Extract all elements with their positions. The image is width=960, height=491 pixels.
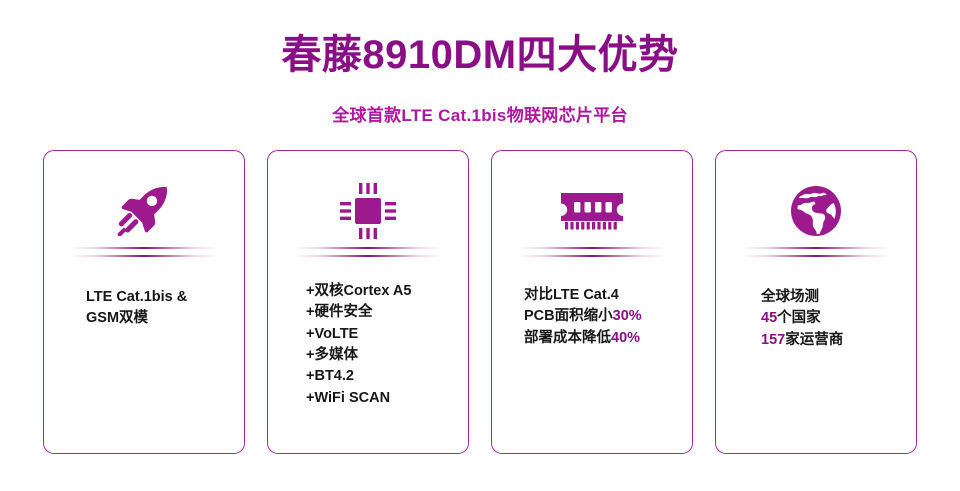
card-line: 45个国家 <box>761 308 906 329</box>
card-text: 全球场测 45个国家 157家运营商 <box>716 287 916 351</box>
card-line: +双核Cortex A5 <box>306 281 458 302</box>
card-line-highlight: 40% <box>611 330 640 346</box>
memory-module-icon <box>561 181 623 241</box>
globe-icon <box>790 181 842 241</box>
card-line: +多媒体 <box>306 345 458 366</box>
feature-card[interactable]: +双核Cortex A5 +硬件安全 +VoLTE +多媒体 +BT4.2 +W… <box>267 150 469 454</box>
card-line-text: 部署成本降低 <box>524 330 611 346</box>
card-line: +BT4.2 <box>306 366 458 387</box>
card-line: GSM双模 <box>86 308 234 329</box>
page-subtitle: 全球首款LTE Cat.1bis物联网芯片平台 <box>0 101 960 126</box>
card-line-text: 对比LTE Cat.4 <box>524 287 619 303</box>
card-text: 对比LTE Cat.4 PCB面积缩小30% 部署成本降低40% <box>492 285 692 349</box>
card-line: 全球场测 <box>761 287 906 308</box>
cpu-chip-icon <box>340 181 396 241</box>
card-line: +WiFi SCAN <box>306 388 458 409</box>
page-title: 春藤8910DM四大优势 <box>0 33 960 78</box>
card-line-highlight: 157 <box>761 332 785 348</box>
card-line-text: 全球场测 <box>761 289 819 305</box>
card-line: 157家运营商 <box>761 330 906 351</box>
card-divider <box>741 247 891 259</box>
card-text: LTE Cat.1bis & GSM双模 <box>44 287 244 330</box>
card-line: 部署成本降低40% <box>524 328 682 349</box>
card-line: +VoLTE <box>306 324 458 345</box>
rocket-icon <box>117 181 171 241</box>
card-divider <box>293 247 443 259</box>
card-line-text: PCB面积缩小 <box>524 308 613 324</box>
feature-card[interactable]: LTE Cat.1bis & GSM双模 <box>43 150 245 454</box>
card-divider <box>69 247 219 259</box>
card-line: +硬件安全 <box>306 302 458 323</box>
card-line: PCB面积缩小30% <box>524 306 682 327</box>
card-text: +双核Cortex A5 +硬件安全 +VoLTE +多媒体 +BT4.2 +W… <box>268 281 468 409</box>
card-line: 对比LTE Cat.4 <box>524 285 682 306</box>
slide-root: 春藤8910DM四大优势 全球首款LTE Cat.1bis物联网芯片平台 LTE… <box>0 0 960 491</box>
feature-card[interactable]: 全球场测 45个国家 157家运营商 <box>715 150 917 454</box>
card-line-text: 家运营商 <box>785 332 843 348</box>
card-line-highlight: 45 <box>761 310 777 326</box>
card-line-text: 个国家 <box>777 310 821 326</box>
feature-card-list: LTE Cat.1bis & GSM双模 <box>43 150 917 454</box>
card-line: LTE Cat.1bis & <box>86 287 234 308</box>
feature-card[interactable]: 对比LTE Cat.4 PCB面积缩小30% 部署成本降低40% <box>491 150 693 454</box>
card-line-highlight: 30% <box>613 308 642 324</box>
card-divider <box>517 247 667 259</box>
